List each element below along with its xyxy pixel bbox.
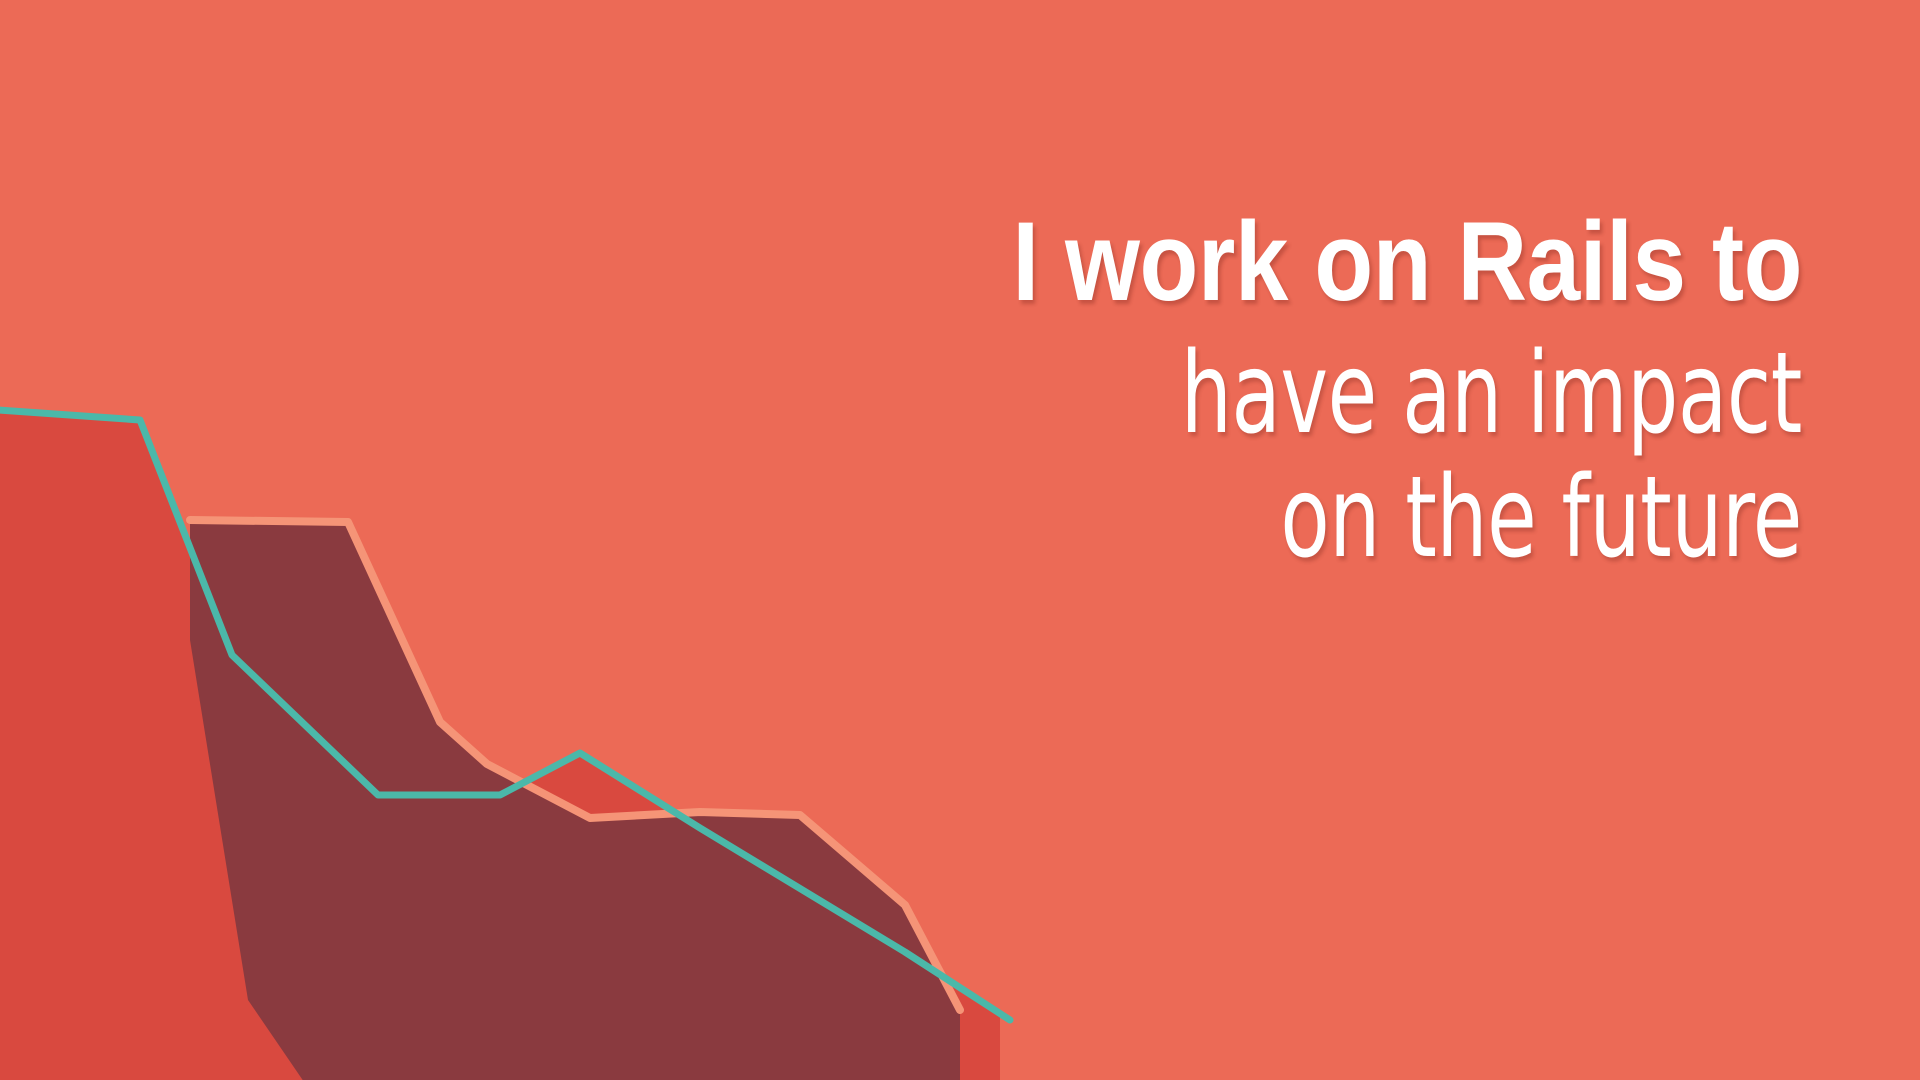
headline-line-1: I work on Rails to [727,205,1802,319]
headline-block: I work on Rails to have an impact on the… [552,205,1802,586]
headline-line-2: have an impact [802,337,1802,451]
salmon-series-line [190,520,960,1010]
headline-line-3: on the future [802,461,1802,575]
salmon-series-area [190,520,960,1080]
slide-root: I work on Rails to have an impact on the… [0,0,1920,1080]
